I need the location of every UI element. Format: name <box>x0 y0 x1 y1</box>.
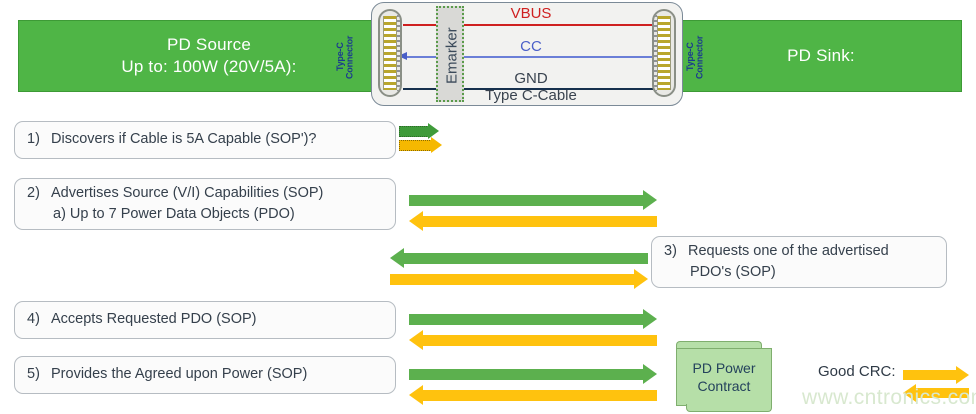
step-1-yellow-arrow-icon <box>399 140 441 151</box>
step-3-number: 3) <box>664 241 688 262</box>
good-crc-label: Good CRC: <box>818 363 896 380</box>
step-5-number: 5) <box>27 364 51 385</box>
type-c-connector-right-icon <box>652 9 676 97</box>
diagram-canvas: PD Source Up to: 100W (20V/5A): PD Sink:… <box>0 0 976 414</box>
type-c-connector-label-left: Type-C Connector <box>336 26 355 88</box>
step-2-box[interactable]: 2)Advertises Source (V/I) Capabilities (… <box>14 178 396 230</box>
step-3-text1: Requests one of the advertised <box>688 243 889 259</box>
type-c-connector-label-right: Type-C Connector <box>686 26 705 88</box>
step-1-green-arrow-icon <box>399 126 437 137</box>
contract-text: PD Power Contract <box>692 359 755 395</box>
emarker-block: Emarker <box>436 6 464 102</box>
pd-sink-block: PD Sink: <box>680 20 962 92</box>
step-2-number: 2) <box>27 183 51 204</box>
step-1-text: Discovers if Cable is 5A Capable (SOP')? <box>51 131 317 147</box>
emarker-label: Emarker <box>438 8 466 104</box>
connector-pins-right <box>657 16 671 90</box>
step-1-line: 1)Discovers if Cable is 5A Capable (SOP'… <box>27 129 383 150</box>
step-4-number: 4) <box>27 309 51 330</box>
step-3-line1: 3)Requests one of the advertised <box>664 241 934 262</box>
pd-source-line2: Up to: 100W (20V/5A): <box>121 56 296 78</box>
site-watermark: www.cntronics.com <box>802 386 976 410</box>
step-4-box[interactable]: 4)Accepts Requested PDO (SOP) <box>14 301 396 339</box>
connector-pins-left <box>383 16 397 90</box>
pd-source-text: PD Source Up to: 100W (20V/5A): <box>121 34 296 78</box>
step-4-line: 4)Accepts Requested PDO (SOP) <box>27 309 383 330</box>
contract-scroll-bottom-curl <box>686 404 772 412</box>
step-3-box[interactable]: 3)Requests one of the advertised PDO's (… <box>651 236 947 288</box>
step-2-text: Advertises Source (V/I) Capabilities (SO… <box>51 185 323 201</box>
step-1-box[interactable]: 1)Discovers if Cable is 5A Capable (SOP'… <box>14 121 396 159</box>
contract-line2: Contract <box>692 377 755 395</box>
pd-source-line1: PD Source <box>121 34 296 56</box>
step-5-box[interactable]: 5)Provides the Agreed upon Power (SOP) <box>14 356 396 394</box>
step-2-line: 2)Advertises Source (V/I) Capabilities (… <box>27 183 383 204</box>
step-5-line: 5)Provides the Agreed upon Power (SOP) <box>27 364 383 385</box>
contract-line1: PD Power <box>692 359 755 377</box>
type-c-cable-body: VBUS CC GND Type C-Cable <box>371 2 683 106</box>
connector-contacts-right <box>654 15 657 91</box>
step-4-text: Accepts Requested PDO (SOP) <box>51 311 257 327</box>
connector-contacts-left <box>397 15 400 91</box>
step-1-number: 1) <box>27 129 51 150</box>
step-5-text: Provides the Agreed upon Power (SOP) <box>51 366 307 382</box>
pd-sink-text: PD Sink: <box>787 45 855 67</box>
type-c-connector-left-icon <box>378 9 402 97</box>
step-2-subline: a) Up to 7 Power Data Objects (PDO) <box>27 204 383 225</box>
pd-power-contract-box: PD Power Contract <box>676 348 772 406</box>
step-3-text2: PDO's (SOP) <box>664 262 934 283</box>
